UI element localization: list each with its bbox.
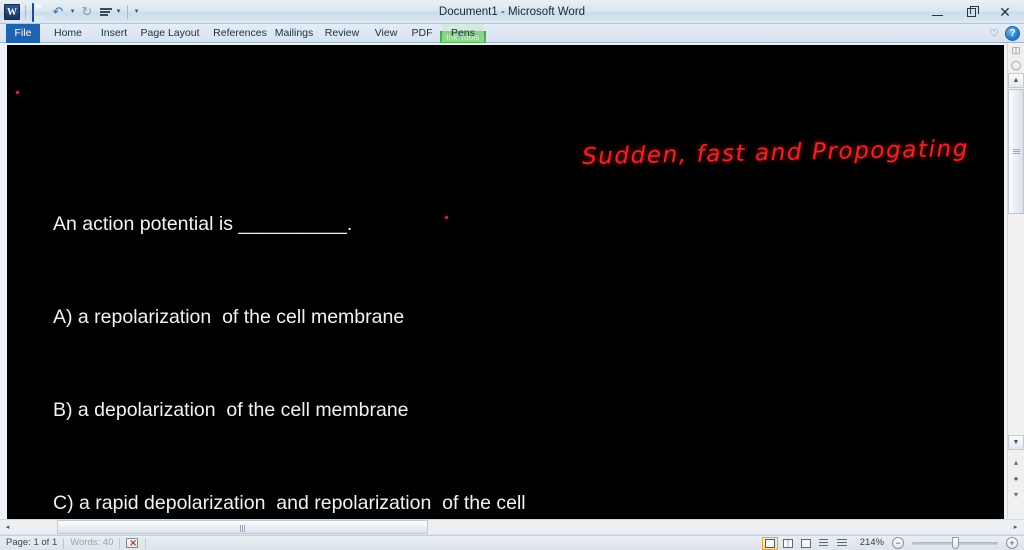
quick-access-dropdown-icon[interactable]: ▾: [115, 4, 122, 20]
scroll-down-button[interactable]: ▼: [1008, 435, 1024, 450]
view-button-web-layout[interactable]: [798, 537, 814, 550]
zoom-in-button[interactable]: +: [1006, 537, 1018, 549]
horizontal-scrollbar[interactable]: ◂ ▸: [0, 519, 1024, 534]
close-button[interactable]: ✕: [988, 1, 1022, 23]
ribbon-tab-strip: Ink Tools File Home Insert Page Layout R…: [0, 24, 1024, 43]
help-icon[interactable]: ?: [1005, 26, 1020, 41]
document-page[interactable]: An action potential is __________. A) a …: [7, 45, 1004, 520]
title-bar: W ↶ ▾ ↻ ▾ ▾ Document1 - Microsoft Word ✕: [0, 0, 1024, 24]
save-icon: [32, 3, 34, 22]
view-button-full-screen-reading[interactable]: [780, 537, 796, 550]
zoom-slider[interactable]: [912, 542, 998, 545]
undo-dropdown-icon[interactable]: ▾: [69, 4, 76, 20]
zoom-slider-thumb[interactable]: [952, 537, 959, 549]
ribbon-right-controls: ♡ ?: [989, 24, 1020, 43]
tab-insert[interactable]: Insert: [92, 24, 136, 42]
ink-dot-mark-2: [445, 216, 448, 219]
horizontal-scroll-thumb[interactable]: [57, 520, 428, 534]
scrollbar-top-icons: ◫ ◯: [1008, 43, 1024, 73]
previous-page-button[interactable]: ▴: [1008, 455, 1024, 469]
zoom-percentage[interactable]: 214%: [852, 536, 890, 550]
proofing-errors-icon[interactable]: ✕: [125, 537, 140, 550]
tab-view[interactable]: View: [366, 24, 406, 42]
status-divider-2: [119, 538, 120, 549]
tab-home[interactable]: Home: [46, 24, 90, 42]
document-workspace: An action potential is __________. A) a …: [0, 43, 1024, 533]
status-right-group: 214% − +: [762, 536, 1024, 550]
view-button-outline[interactable]: [816, 537, 832, 550]
document-line-option-a: A) a repolarization of the cell membrane: [53, 302, 693, 333]
draft-icon: [837, 539, 847, 548]
vertical-scrollbar[interactable]: ◫ ◯ ▲ ▼ ▴ ● ▾: [1007, 43, 1024, 518]
minimize-button[interactable]: [920, 1, 954, 23]
window-title: Document1 - Microsoft Word: [0, 0, 1024, 24]
split-window-icon[interactable]: ◫: [1008, 43, 1024, 58]
status-bar: Page: 1 of 1 Words: 40 ✕ 214% − +: [0, 535, 1024, 550]
status-word-count[interactable]: Words: 40: [64, 536, 119, 550]
tab-file[interactable]: File: [6, 24, 40, 43]
view-button-print-layout[interactable]: [762, 537, 778, 550]
web-layout-icon: [801, 539, 811, 548]
ink-annotation-text: Sudden, fast and Propogating: [582, 136, 969, 170]
save-button[interactable]: [31, 4, 47, 20]
full-screen-reading-icon: [783, 539, 793, 548]
tab-page-layout[interactable]: Page Layout: [134, 24, 206, 42]
document-line-option-b: B) a depolarization of the cell membrane: [53, 395, 693, 426]
scroll-up-button[interactable]: ▲: [1008, 73, 1024, 88]
customize-quick-access-icon[interactable]: ▾: [133, 4, 140, 20]
ribbon-collapse-icon[interactable]: ♡: [989, 27, 999, 41]
vertical-scroll-thumb[interactable]: [1008, 89, 1024, 214]
document-line-question: An action potential is __________.: [53, 209, 693, 240]
tab-references[interactable]: References: [206, 24, 274, 42]
redo-button[interactable]: ↻: [79, 4, 95, 20]
select-browse-object-button[interactable]: ●: [1008, 471, 1024, 485]
zoom-out-button[interactable]: −: [892, 537, 904, 549]
word-app-icon[interactable]: W: [4, 4, 20, 20]
toolbar-divider: [25, 5, 26, 19]
tab-mailings[interactable]: Mailings: [268, 24, 320, 42]
view-button-draft[interactable]: [834, 537, 850, 550]
restore-icon: [967, 8, 976, 17]
document-body-text[interactable]: An action potential is __________. A) a …: [53, 147, 693, 520]
quick-access-toolbar: W ↶ ▾ ↻ ▾ ▾: [4, 2, 140, 22]
tab-pens[interactable]: Pens: [442, 24, 484, 42]
outline-icon: [819, 539, 828, 548]
scroll-right-button[interactable]: ▸: [1008, 520, 1023, 534]
window-controls: ✕: [920, 0, 1022, 24]
minimize-icon: [932, 15, 943, 16]
next-page-button[interactable]: ▾: [1008, 487, 1024, 501]
restore-button[interactable]: [954, 1, 988, 23]
ink-annotation-icon[interactable]: ◯: [1008, 58, 1024, 73]
redo-icon: ↻: [79, 4, 95, 20]
status-page-indicator[interactable]: Page: 1 of 1: [0, 536, 63, 550]
close-icon: ✕: [999, 4, 1011, 21]
scroll-left-button[interactable]: ◂: [0, 520, 15, 534]
document-line-option-c: C) a rapid depolarization and repolariza…: [53, 488, 693, 519]
status-divider-3: [145, 538, 146, 549]
toolbar-divider-2: [127, 5, 128, 19]
tab-pdf[interactable]: PDF: [404, 24, 440, 42]
print-layout-icon: [765, 539, 775, 548]
undo-icon: ↶: [50, 4, 66, 20]
undo-button[interactable]: ↶: [50, 4, 66, 20]
touch-mode-icon[interactable]: [100, 4, 112, 20]
word-application-window: W ↶ ▾ ↻ ▾ ▾ Document1 - Microsoft Word ✕…: [0, 0, 1024, 550]
ink-dot-mark-1: [16, 91, 19, 94]
tab-review[interactable]: Review: [318, 24, 366, 42]
